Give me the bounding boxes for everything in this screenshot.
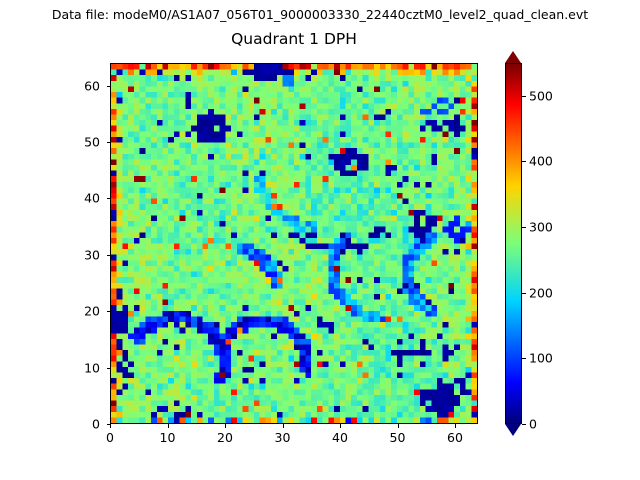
- colorbar-tick-mark: [522, 96, 526, 97]
- x-tick-mark: [340, 424, 341, 428]
- plot-title: Quadrant 1 DPH: [0, 30, 588, 48]
- colorbar-extend-min-arrow: [505, 424, 521, 436]
- x-tick-label: 60: [447, 430, 463, 445]
- y-tick-label: 60: [48, 78, 100, 93]
- y-tick-label: 20: [48, 304, 100, 319]
- x-tick-mark: [168, 424, 169, 428]
- colorbar-extend-max-arrow: [505, 51, 521, 63]
- y-tick-label: 30: [48, 247, 100, 262]
- x-tick-mark: [110, 424, 111, 428]
- y-tick-mark: [107, 198, 111, 199]
- x-tick-label: 30: [275, 430, 291, 445]
- colorbar-tick-label: 300: [529, 220, 553, 235]
- y-tick-label: 0: [48, 417, 100, 432]
- matplotlib-figure: Data file: modeM0/AS1A07_056T01_90000033…: [0, 0, 640, 480]
- colorbar-body: [505, 63, 522, 424]
- colorbar-tick-mark: [522, 227, 526, 228]
- y-tick-label: 10: [48, 360, 100, 375]
- x-tick-label: 50: [390, 430, 406, 445]
- x-tick-label: 0: [106, 430, 114, 445]
- colorbar-gradient: [506, 64, 521, 423]
- colorbar-tick-label: 100: [529, 351, 553, 366]
- y-tick-mark: [107, 142, 111, 143]
- x-tick-label: 20: [217, 430, 233, 445]
- y-tick-mark: [107, 86, 111, 87]
- colorbar-tick-label: 0: [529, 417, 537, 432]
- x-tick-mark: [398, 424, 399, 428]
- colorbar-tick-mark: [522, 358, 526, 359]
- x-tick-mark: [455, 424, 456, 428]
- heatmap-axes[interactable]: [110, 63, 478, 424]
- y-tick-mark: [107, 368, 111, 369]
- colorbar-tick-mark: [522, 424, 526, 425]
- y-tick-mark: [107, 255, 111, 256]
- colorbar-tick-label: 200: [529, 285, 553, 300]
- colorbar-tick-mark: [522, 293, 526, 294]
- x-tick-label: 40: [332, 430, 348, 445]
- y-tick-label: 40: [48, 191, 100, 206]
- x-tick-mark: [283, 424, 284, 428]
- x-tick-label: 10: [160, 430, 176, 445]
- y-tick-mark: [107, 311, 111, 312]
- detector-heatmap-image: [111, 64, 477, 423]
- data-file-label: Data file: modeM0/AS1A07_056T01_90000033…: [0, 7, 640, 22]
- x-tick-mark: [225, 424, 226, 428]
- colorbar[interactable]: [505, 63, 522, 424]
- colorbar-tick-label: 400: [529, 154, 553, 169]
- colorbar-tick-mark: [522, 161, 526, 162]
- colorbar-tick-label: 500: [529, 88, 553, 103]
- y-tick-label: 50: [48, 134, 100, 149]
